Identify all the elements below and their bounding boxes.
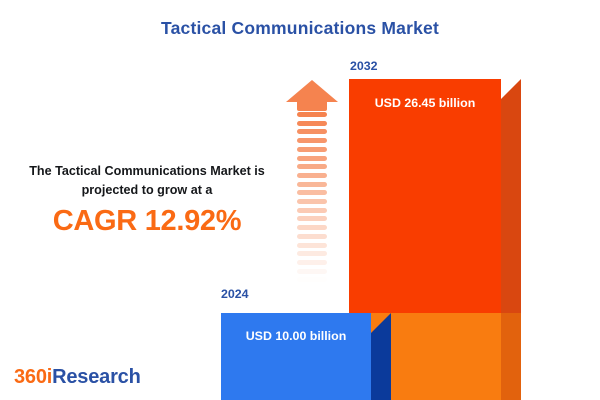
arrow-stripe xyxy=(297,173,327,178)
arrow-head-shape xyxy=(286,80,338,102)
arrow-stripe xyxy=(297,251,327,256)
arrow-stripe xyxy=(297,277,327,282)
arrow-stripe xyxy=(297,129,327,134)
arrow-stripe xyxy=(297,121,327,126)
arrow-stripe xyxy=(297,112,327,117)
arrow-stripe xyxy=(297,138,327,143)
bar-2024-value-label: USD 10.00 billion xyxy=(221,329,371,343)
bar-2024: USD 10.00 billion xyxy=(221,313,371,400)
cagr-lead-text: The Tactical Communications Market is pr… xyxy=(16,162,278,200)
growth-arrow-up-icon xyxy=(286,80,338,298)
cagr-value-text: CAGR 12.92% xyxy=(16,205,278,238)
cagr-callout: The Tactical Communications Market is pr… xyxy=(16,162,278,238)
arrow-stripe xyxy=(297,208,327,213)
arrow-stripe xyxy=(297,182,327,187)
arrow-stripe xyxy=(297,199,327,204)
arrow-stripe xyxy=(297,216,327,221)
arrow-stripe xyxy=(297,234,327,239)
arrow-neck-shape xyxy=(297,101,327,111)
page-title: Tactical Communications Market xyxy=(0,18,600,39)
brand-logo-part-360i: 360i xyxy=(14,366,52,388)
bar-2024-front-face xyxy=(221,313,371,400)
brand-logo-part-research: Research xyxy=(52,366,140,388)
brand-logo: 360iResearch xyxy=(14,366,141,389)
year-label-2032: 2032 xyxy=(350,59,378,73)
bar-2032-value-label: USD 26.45 billion xyxy=(349,96,501,110)
arrow-stripe xyxy=(297,225,327,230)
arrow-stripe xyxy=(297,156,327,161)
arrow-stripe xyxy=(297,260,327,265)
arrow-shaft-stripes xyxy=(297,112,327,298)
bar-2032-side-overlap-lower xyxy=(501,313,521,400)
arrow-stripe xyxy=(297,147,327,152)
arrow-stripe xyxy=(297,243,327,248)
arrow-stripe xyxy=(297,190,327,195)
arrow-stripe xyxy=(297,164,327,169)
arrow-stripe xyxy=(297,269,327,274)
infographic-canvas: Tactical Communications Market The Tacti… xyxy=(0,0,600,400)
year-label-2024: 2024 xyxy=(221,287,249,301)
